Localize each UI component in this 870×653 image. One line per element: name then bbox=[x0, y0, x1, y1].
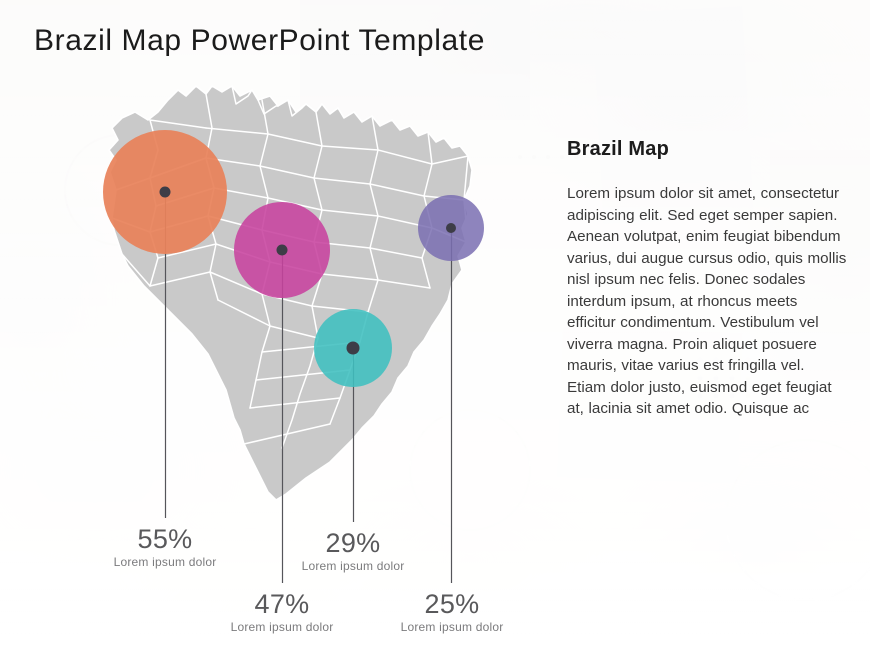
slide-canvas: Brazil Map PowerPoint Template bbox=[0, 0, 870, 653]
marker-dot-magenta bbox=[277, 245, 288, 256]
callout-caption: Lorem ipsum dolor bbox=[90, 554, 240, 570]
callout-percent: 47% bbox=[207, 589, 357, 619]
callout-caption: Lorem ipsum dolor bbox=[207, 619, 357, 635]
marker-dot-orange bbox=[160, 187, 171, 198]
callout-percent: 25% bbox=[377, 589, 527, 619]
callout-caption: Lorem ipsum dolor bbox=[377, 619, 527, 635]
callout-teal: 29% Lorem ipsum dolor bbox=[278, 528, 428, 574]
panel-body-text: Lorem ipsum dolor sit amet, consectetur … bbox=[567, 183, 847, 420]
marker-dot-purple bbox=[446, 223, 456, 233]
panel-heading: Brazil Map bbox=[567, 138, 847, 161]
callout-purple: 25% Lorem ipsum dolor bbox=[377, 589, 527, 635]
callout-magenta: 47% Lorem ipsum dolor bbox=[207, 589, 357, 635]
info-panel: Brazil Map Lorem ipsum dolor sit amet, c… bbox=[567, 138, 847, 420]
brazil-map-svg bbox=[0, 0, 540, 653]
callout-caption: Lorem ipsum dolor bbox=[278, 558, 428, 574]
marker-dot-teal bbox=[347, 342, 360, 355]
callout-percent: 29% bbox=[278, 528, 428, 558]
callout-orange: 55% Lorem ipsum dolor bbox=[90, 524, 240, 570]
brazil-map-container bbox=[0, 0, 540, 653]
callout-percent: 55% bbox=[90, 524, 240, 554]
